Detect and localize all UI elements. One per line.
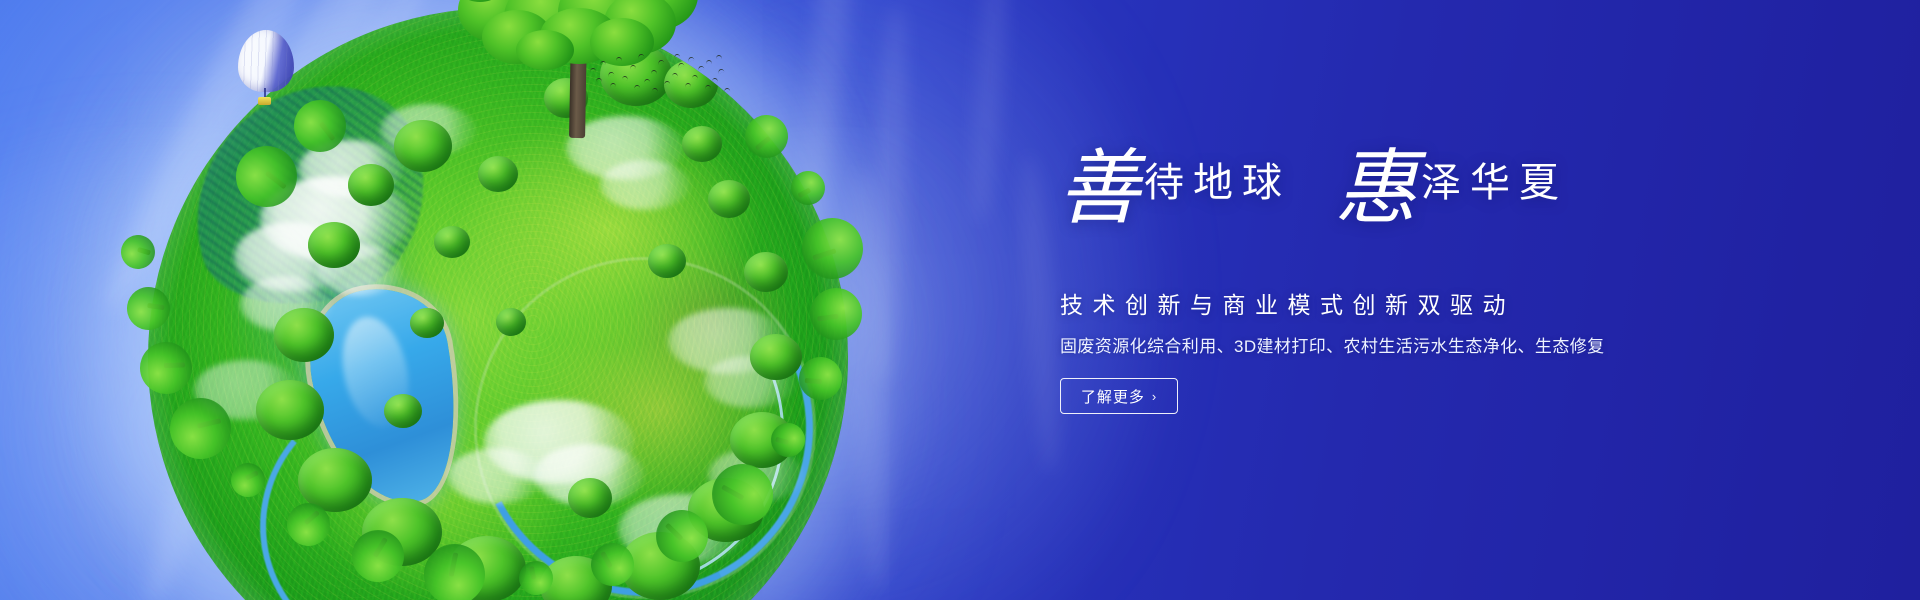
cloud-wisp (868, 5, 911, 386)
rim-tree-canopy (807, 285, 865, 343)
bird (590, 68, 596, 72)
learn-more-button[interactable]: 了解更多 › (1060, 378, 1178, 414)
chevron-right-icon: › (1152, 390, 1157, 403)
headline-char-hui: 惠 (1335, 143, 1415, 234)
rim-tree (516, 558, 555, 597)
tree-canopy (568, 478, 612, 518)
headline-char-shan: 善 (1058, 143, 1138, 234)
hero-banner: 善待地球惠泽华夏 技术创新与商业模式创新双驱动 固废资源化综合利用、3D建材打印… (0, 0, 1920, 600)
bird (716, 55, 722, 59)
rim-tree (117, 231, 159, 273)
bird (698, 65, 705, 71)
bird (706, 60, 712, 64)
rim-tree (797, 355, 843, 401)
balloon-envelope (238, 30, 294, 92)
tree-canopy (434, 226, 470, 258)
rim-tree-canopy (797, 355, 843, 401)
planet-cloud (448, 448, 544, 504)
bird (596, 78, 602, 82)
cloud-wisp (967, 0, 1014, 224)
bird (688, 56, 695, 62)
bird (674, 53, 681, 58)
bird (712, 78, 719, 83)
tree-canopy (256, 380, 324, 440)
bird (638, 53, 645, 59)
tree-canopy (274, 308, 334, 362)
bird (678, 62, 685, 68)
bird (718, 68, 725, 74)
tree-canopy (744, 252, 788, 292)
hot-air-balloon-icon (238, 30, 294, 106)
bird (664, 80, 671, 85)
tree-canopy (708, 180, 750, 218)
headline-text-daidiqiu: 待地球 (1138, 160, 1291, 205)
bird (652, 88, 659, 93)
bird (658, 59, 665, 65)
bird (622, 76, 629, 81)
learn-more-label: 了解更多 (1081, 386, 1145, 407)
tree-canopy (496, 308, 526, 336)
tree-canopy (410, 308, 444, 338)
bird (644, 78, 651, 83)
bird (634, 84, 641, 89)
tree-canopy (394, 120, 452, 172)
rim-tree-canopy (516, 558, 555, 597)
tree-crown-blob (516, 30, 574, 70)
page-title: 善待地球惠泽华夏 (1058, 148, 1568, 230)
rim-tree (139, 341, 193, 395)
bird-flock-icon (588, 52, 728, 94)
bird (705, 85, 711, 89)
tree-canopy (348, 164, 394, 206)
tree-canopy (750, 334, 802, 380)
rim-tree-canopy (117, 231, 159, 273)
rim-tree (163, 391, 236, 464)
bird (630, 65, 636, 69)
page-description: 固废资源化综合利用、3D建材打印、农村生活污水生态净化、生态修复 (1060, 332, 1605, 357)
bird (616, 57, 622, 61)
rim-tree (124, 284, 173, 333)
headline-text-zehuaxia: 泽华夏 (1415, 160, 1568, 205)
rim-tree (807, 285, 865, 343)
rim-tree-canopy (163, 391, 236, 464)
balloon-basket (258, 97, 271, 105)
hero-content: 善待地球惠泽华夏 技术创新与商业模式创新双驱动 固废资源化综合利用、3D建材打印… (1058, 0, 1818, 600)
bird (685, 83, 691, 87)
tree-canopy (478, 156, 518, 192)
page-subtitle: 技术创新与商业模式创新双驱动 (1060, 286, 1515, 320)
rim-tree-canopy (139, 341, 193, 395)
tree-canopy (648, 244, 686, 278)
bird (651, 70, 657, 74)
rim-tree-canopy (124, 284, 173, 333)
bird (608, 71, 615, 77)
bird (672, 73, 679, 78)
bird (610, 83, 616, 87)
planet-cloud (600, 160, 690, 210)
bird (600, 61, 606, 65)
tree-canopy (384, 394, 422, 428)
tree-canopy (308, 222, 360, 268)
bird (692, 75, 699, 80)
